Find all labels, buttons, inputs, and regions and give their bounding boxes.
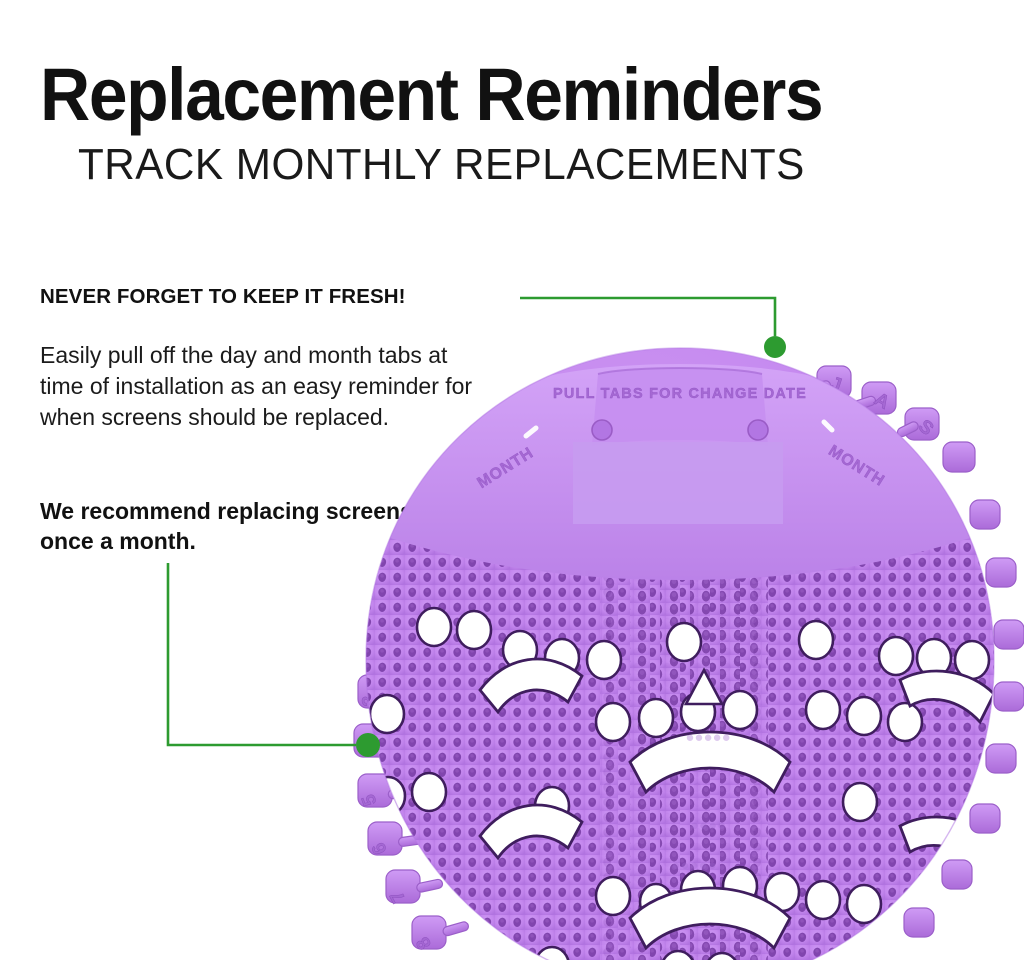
svg-text:●●●●●: ●●●●●	[671, 857, 716, 874]
urinal-screen-illustration: J F M A M J J A S 1 2 3 4 5 6 7 8	[330, 330, 1024, 960]
edge-tab-right-1	[970, 500, 1000, 529]
edge-tab-right-7	[942, 860, 972, 889]
connector-line-2	[168, 563, 356, 745]
edge-tab-right-4	[994, 682, 1024, 711]
masked-label-rectangle	[573, 442, 783, 524]
svg-text:●●●●●: ●●●●●	[685, 729, 730, 746]
rivet-right	[748, 420, 768, 440]
page-title: Replacement Reminders	[40, 58, 822, 132]
page-subtitle: TRACK MONTHLY REPLACEMENTS	[78, 140, 805, 190]
poster-canvas: Replacement Reminders TRACK MONTHLY REPL…	[0, 0, 1024, 960]
edge-tab-right-6	[970, 804, 1000, 833]
edge-tab-right-3	[994, 620, 1024, 649]
edge-tab-right-2	[986, 558, 1016, 587]
callout-heading-keep-it-fresh: NEVER FORGET TO KEEP IT FRESH!	[40, 285, 406, 309]
edge-tab-right-8	[904, 908, 934, 937]
month-tab-right-extra	[943, 442, 975, 472]
rivet-left	[592, 420, 612, 440]
svg-text:●●●●: ●●●●	[690, 817, 726, 834]
embossed-pull-tabs-text: PULL TABS FOR CHANGE DATE	[553, 386, 807, 402]
product-image-urinal-screen: J F M A M J J A S 1 2 3 4 5 6 7 8	[330, 330, 1024, 960]
edge-tab-right-5	[986, 744, 1016, 773]
pull-tabs-plaque	[592, 368, 768, 446]
